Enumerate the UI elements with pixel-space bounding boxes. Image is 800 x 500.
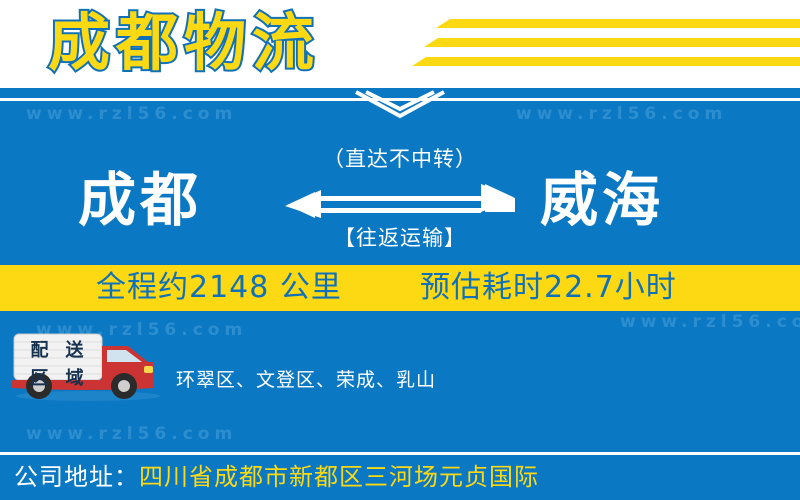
header-stripe-1 xyxy=(436,19,800,28)
footer-address: 公司地址：四川省成都市新都区三河场元贞国际 xyxy=(14,460,539,494)
origin-city: 成都 xyxy=(78,165,202,235)
truck-label-char: 域 xyxy=(66,369,84,389)
truck-label-char: 配 xyxy=(31,341,49,361)
address-label: 公司地址： xyxy=(14,463,139,491)
truck-label-char: 区 xyxy=(31,369,49,389)
banner-header: 成都物流 xyxy=(0,0,800,88)
route-note-roundtrip: 【往返运输】 xyxy=(295,222,505,252)
footer-divider xyxy=(0,452,800,455)
delivery-areas-text: 环翠区、文登区、荣成、乳山 xyxy=(176,365,436,392)
watermark: www.rzl56.com xyxy=(516,104,727,124)
destination-city: 威海 xyxy=(540,165,664,235)
distance-text: 全程约2148 公里 xyxy=(96,268,342,308)
watermark: www.rzl56.com xyxy=(620,312,800,332)
route-note-direct: （直达不中转） xyxy=(295,143,505,173)
truck-label-char: 送 xyxy=(66,341,84,361)
bidirectional-arrow-icon xyxy=(285,178,515,218)
truck-cargo-label: 配 送 区 域 xyxy=(22,337,92,393)
page-title: 成都物流 xyxy=(48,4,320,82)
header-stripe-3 xyxy=(412,57,800,66)
watermark: www.rzl56.com xyxy=(26,104,237,124)
logistics-banner: 成都物流 www.rzl56.com www.rzl56.com www.rzl… xyxy=(0,0,800,500)
header-stripe-2 xyxy=(424,38,800,47)
chevron-down-icon xyxy=(352,90,448,124)
address-value: 四川省成都市新都区三河场元贞国际 xyxy=(139,463,539,491)
watermark: www.rzl56.com xyxy=(26,424,237,444)
duration-text: 预估耗时22.7小时 xyxy=(420,268,677,308)
